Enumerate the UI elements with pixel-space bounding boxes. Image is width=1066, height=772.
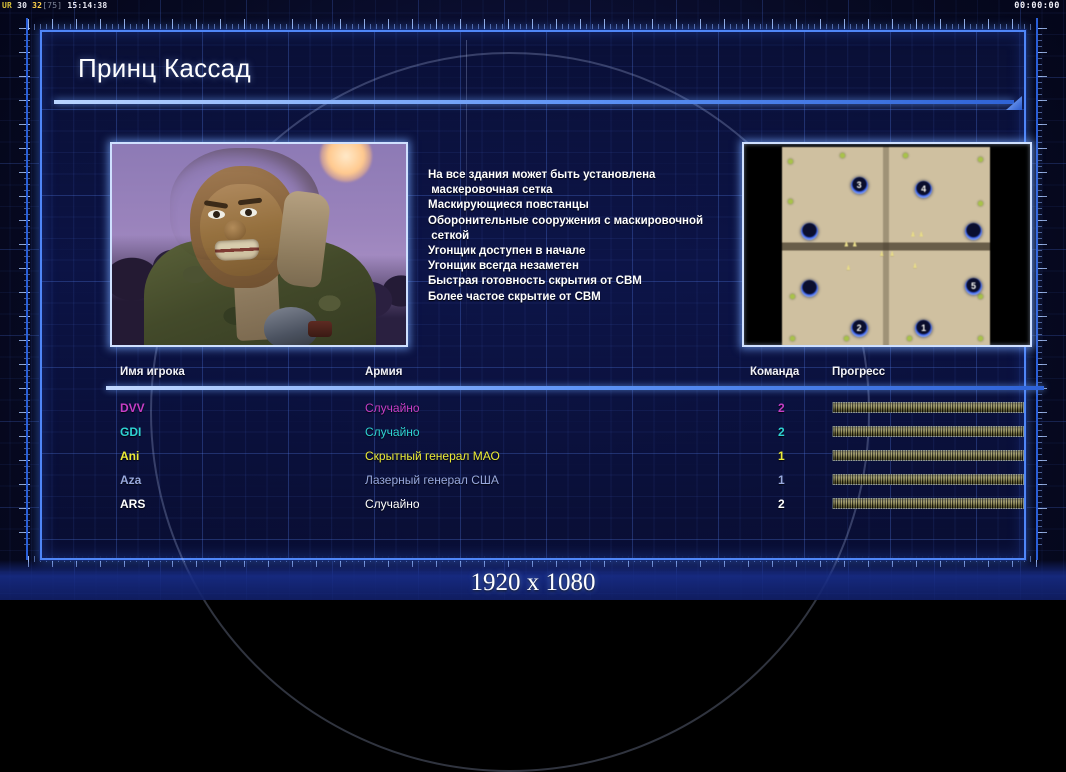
- player-name: ARS: [120, 492, 145, 516]
- table-header-row: Имя игрока Армия Команда Прогресс: [110, 366, 1040, 386]
- map-tree-marker: [978, 201, 983, 206]
- ability-line: Оборонительные сооружения с маскировочно…: [428, 214, 746, 229]
- map-spawn-point-x2: [801, 223, 818, 240]
- ability-line: Угонщик доступен в начале: [428, 244, 746, 259]
- player-army: Случайно: [365, 492, 420, 516]
- title-bar: Принц Кассад: [54, 42, 1012, 94]
- ability-line: сеткой: [428, 229, 746, 244]
- column-header-name: Имя игрока: [120, 366, 185, 378]
- column-header-team: Команда: [750, 366, 799, 378]
- table-row[interactable]: AniСкрытный генерал МАО1: [110, 444, 1040, 468]
- map-tree-marker: [907, 336, 912, 341]
- player-name: Ani: [120, 444, 139, 468]
- portrait-eye-left: [208, 210, 225, 219]
- ability-line: Быстрая готовность скрытия от СВМ: [428, 274, 746, 289]
- map-tree-marker: [903, 153, 908, 158]
- map-preview[interactable]: 34521: [742, 142, 1032, 347]
- map-spawn-point-3: 3: [851, 177, 868, 194]
- header-divider: [106, 386, 1044, 390]
- map-tree-marker: [978, 336, 983, 341]
- map-spawn-point-x3: [965, 223, 982, 240]
- game-lobby-window: Принц Кассад: [40, 30, 1026, 560]
- ability-line: Угонщик всегда незаметен: [428, 259, 746, 274]
- ability-line: маскеровочная сетка: [428, 183, 746, 198]
- map-tree-marker: [978, 294, 983, 299]
- player-progress-bar: [832, 498, 1024, 509]
- map-spawn-point-2: 2: [851, 320, 868, 337]
- player-army: Лазерный генерал США: [365, 468, 499, 492]
- player-table: Имя игрока Армия Команда Прогресс DVVСлу…: [110, 366, 1040, 516]
- map-spawn-point-4: 4: [915, 181, 932, 198]
- player-name: GDI: [120, 420, 141, 444]
- player-progress-bar: [832, 474, 1024, 485]
- title-underline: [54, 100, 1014, 104]
- player-army: Случайно: [365, 420, 420, 444]
- player-team: 1: [778, 444, 785, 468]
- player-army: Скрытный генерал МАО: [365, 444, 500, 468]
- ability-line: Маскирующиеся повстанцы: [428, 198, 746, 213]
- general-ability-list: На все здания может быть установлена мас…: [428, 168, 746, 305]
- player-name: DVV: [120, 396, 145, 420]
- map-river: [782, 147, 990, 346]
- table-row[interactable]: GDIСлучайно2: [110, 420, 1040, 444]
- map-terrain: 34521: [782, 147, 990, 346]
- general-portrait: [110, 142, 408, 347]
- player-progress-bar: [832, 402, 1024, 413]
- player-team: 2: [778, 492, 785, 516]
- ability-line: Более частое скрытие от СВМ: [428, 290, 746, 305]
- table-row[interactable]: ARSСлучайно2: [110, 492, 1040, 516]
- map-spawn-point-x4: [801, 280, 818, 297]
- general-info-strip: На все здания может быть установлена мас…: [110, 142, 1040, 354]
- player-team: 2: [778, 396, 785, 420]
- player-army: Случайно: [365, 396, 420, 420]
- player-progress-bar: [832, 450, 1024, 461]
- map-tree-marker: [788, 199, 793, 204]
- table-body: DVVСлучайно2GDIСлучайно2AniСкрытный гене…: [110, 386, 1040, 516]
- portrait-artwork: [112, 144, 406, 345]
- ability-line: На все здания может быть установлена: [428, 168, 746, 183]
- column-header-progress: Прогресс: [832, 366, 885, 378]
- player-team: 2: [778, 420, 785, 444]
- portrait-mouth: [215, 239, 260, 261]
- column-header-army: Армия: [365, 366, 402, 378]
- map-tree-marker: [978, 157, 983, 162]
- table-row[interactable]: DVVСлучайно2: [110, 396, 1040, 420]
- portrait-teapot: [264, 307, 318, 345]
- table-row[interactable]: AzaЛазерный генерал США1: [110, 468, 1040, 492]
- player-name: Aza: [120, 468, 141, 492]
- page-title: Принц Кассад: [54, 42, 1012, 94]
- player-progress-bar: [832, 426, 1024, 437]
- portrait-eye-right: [240, 208, 257, 217]
- player-team: 1: [778, 468, 785, 492]
